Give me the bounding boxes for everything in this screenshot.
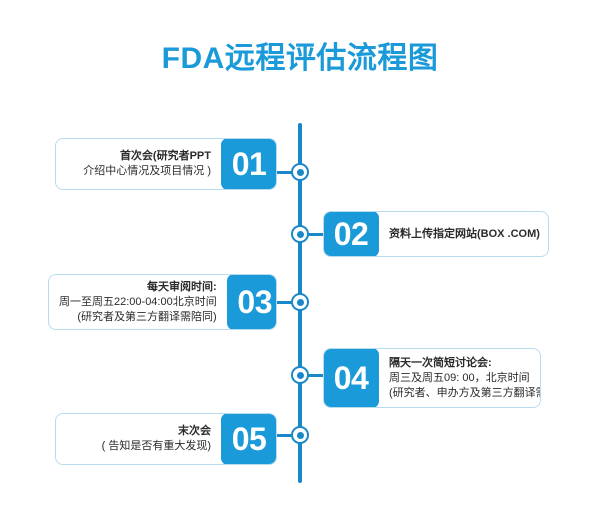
step-01-line-1: 首次会(研究者PPT: [120, 149, 211, 164]
step-04-line-3: (研究者、申办方及第三方翻译需参加 ): [389, 386, 541, 401]
flow-step-card-05[interactable]: 末次会( 告知是否有重大发现)05: [55, 413, 277, 465]
ring-dot-icon: [291, 163, 309, 181]
flow-step-card-03[interactable]: 每天审阅时间:周一至周五22:00-04:00北京时间(研究者及第三方翻译需陪同…: [48, 274, 277, 330]
step-04-line-2: 周三及周五09: 00，北京时间: [389, 371, 530, 386]
step-04-line-1: 隔天一次简短讨论会:: [389, 356, 492, 371]
step-02-line-1: 资料上传指定网站(BOX .COM): [389, 227, 540, 242]
step-number-03: 03: [227, 274, 277, 330]
ring-dot-icon: [291, 293, 309, 311]
flow-step-card-02[interactable]: 02资料上传指定网站(BOX .COM): [323, 211, 549, 257]
flow-step-card-01[interactable]: 首次会(研究者PPT介绍中心情况及项目情况 )01: [55, 138, 277, 190]
page-title: FDA远程评估流程图: [0, 38, 600, 80]
step-text-02: 资料上传指定网站(BOX .COM): [379, 212, 549, 256]
step-number-01: 01: [221, 138, 277, 190]
step-03-line-2: 周一至周五22:00-04:00北京时间: [59, 295, 217, 310]
step-number-05: 05: [221, 413, 277, 465]
step-05-line-1: 末次会: [178, 424, 211, 439]
step-03-line-3: (研究者及第三方翻译需陪同): [77, 310, 216, 325]
step-text-03: 每天审阅时间:周一至周五22:00-04:00北京时间(研究者及第三方翻译需陪同…: [49, 275, 227, 329]
step-text-04: 隔天一次简短讨论会:周三及周五09: 00，北京时间(研究者、申办方及第三方翻译…: [379, 349, 541, 407]
step-number-02: 02: [323, 211, 379, 257]
step-text-05: 末次会( 告知是否有重大发现): [56, 414, 221, 464]
step-number-04: 04: [323, 348, 379, 408]
ring-dot-icon: [291, 426, 309, 444]
ring-dot-icon: [291, 366, 309, 384]
step-01-line-2: 介绍中心情况及项目情况 ): [83, 164, 211, 179]
flow-step-card-04[interactable]: 04隔天一次简短讨论会:周三及周五09: 00，北京时间(研究者、申办方及第三方…: [323, 348, 541, 408]
step-text-01: 首次会(研究者PPT介绍中心情况及项目情况 ): [56, 139, 221, 189]
step-03-line-1: 每天审阅时间:: [147, 280, 217, 295]
step-05-line-2: ( 告知是否有重大发现): [102, 439, 211, 454]
ring-dot-icon: [291, 225, 309, 243]
